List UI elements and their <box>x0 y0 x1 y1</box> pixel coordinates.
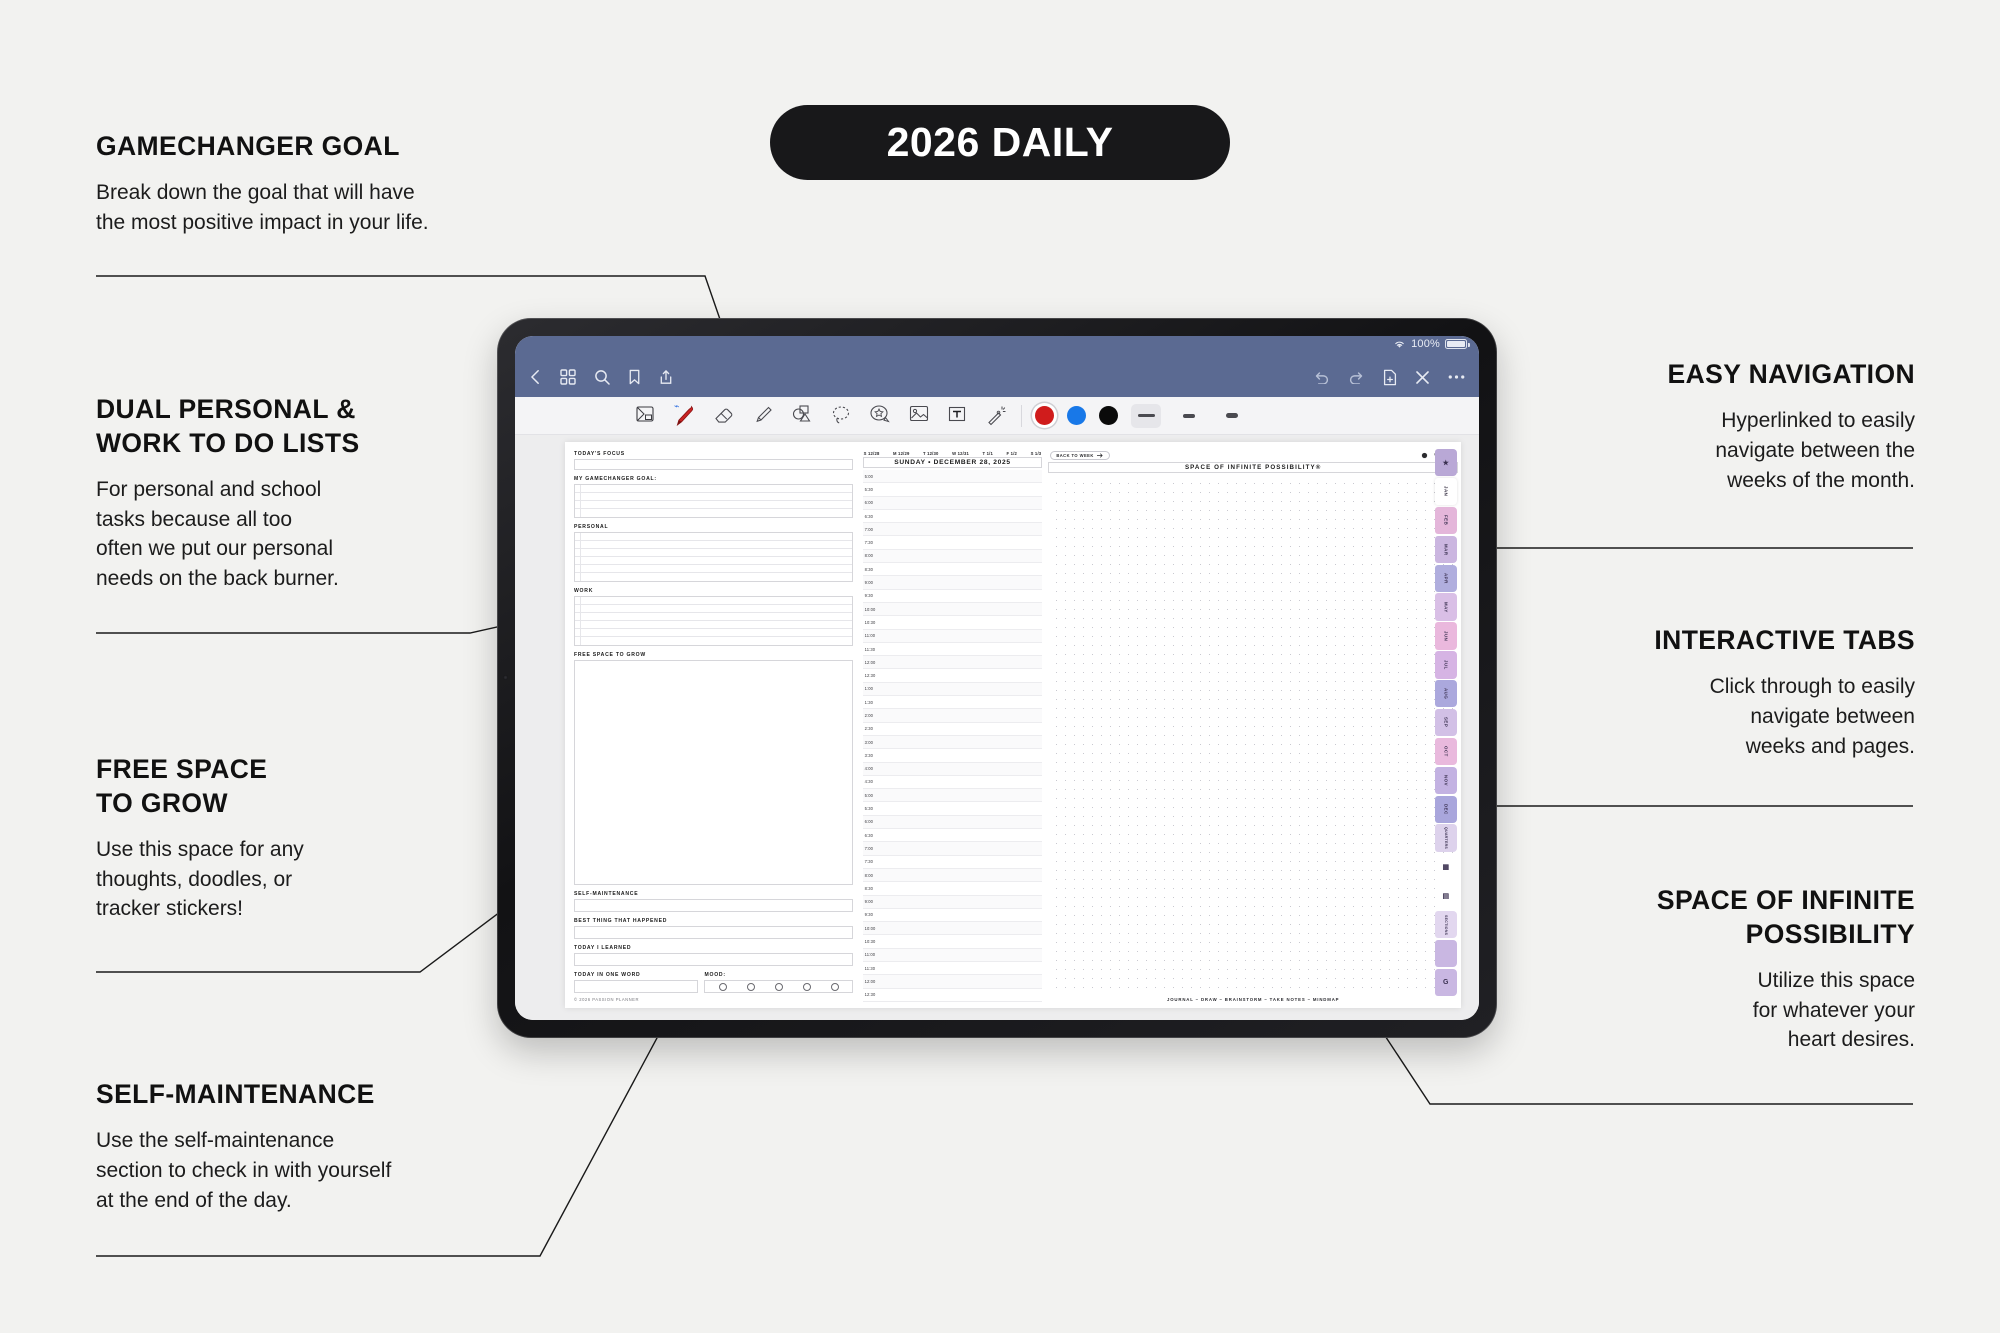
callout-body: For personal and school tasks because al… <box>96 475 536 594</box>
apple-icon[interactable] <box>1435 940 1457 967</box>
page-title: 2026 DAILY <box>887 119 1114 166</box>
page-title-badge: 2026 DAILY <box>770 105 1230 180</box>
planner-notes-column: BACK TO WEEK SPACE OF INFINITE POSSIBILI… <box>1044 442 1461 1008</box>
app-nav-bar <box>515 357 1479 397</box>
tab-sections[interactable]: SECTIONS <box>1435 911 1457 938</box>
today-one-word-field[interactable] <box>574 980 698 993</box>
planner-schedule-column: S 12/28 M 12/29 T 12/30 W 12/31 T 1/1 F … <box>861 442 1045 1008</box>
schedule-time-label: 8:30 <box>863 567 878 572</box>
today-one-word-label: TODAY IN ONE WORD <box>574 972 698 978</box>
schedule-time-label: 12:00 <box>863 979 878 984</box>
schedule-slot[interactable]: 5:30 <box>863 802 1043 815</box>
schedule-time-label: 7:00 <box>863 846 878 851</box>
toolbar-divider <box>1021 405 1022 427</box>
callout-title: INTERACTIVE TABS <box>1530 624 1915 658</box>
pen-icon[interactable]: ⌁ <box>674 404 696 428</box>
planner-page: TODAY'S FOCUS MY GAMECHANGER GOAL: PERSO… <box>565 442 1461 1008</box>
list-row[interactable] <box>575 549 852 557</box>
mood-selector[interactable] <box>704 980 852 993</box>
color-swatch-red[interactable] <box>1035 406 1054 425</box>
callout-body: Break down the goal that will have the m… <box>96 178 616 238</box>
tablet-device: 100% <box>497 318 1497 1038</box>
list-row[interactable] <box>575 613 852 621</box>
schedule-time-label: 7:30 <box>863 540 878 545</box>
schedule-time-label: 10:30 <box>863 620 878 625</box>
shape-icon[interactable] <box>791 404 813 428</box>
mood-frown-face-icon[interactable] <box>747 983 755 991</box>
callout-body: Utilize this space for whatever your hea… <box>1520 966 1915 1055</box>
color-swatch-black[interactable] <box>1099 406 1118 425</box>
schedule-time-label: 10:00 <box>863 607 878 612</box>
tab-apr[interactable]: APR <box>1435 565 1457 592</box>
schedule-slot[interactable]: 12:00 <box>863 656 1043 669</box>
schedule-time-label: 9:30 <box>863 593 878 598</box>
tab-may[interactable]: MAY <box>1435 593 1457 620</box>
schedule-slot[interactable]: 11:30 <box>863 643 1043 656</box>
list-row[interactable] <box>575 501 852 509</box>
list-row[interactable] <box>575 533 852 541</box>
stroke-width-thin[interactable] <box>1131 404 1161 428</box>
schedule-time-label: 4:00 <box>863 766 878 771</box>
callout-easy-navigation: EASY NAVIGATION Hyperlinked to easily na… <box>1540 358 1915 495</box>
schedule-slot[interactable]: 12:30 <box>863 669 1043 682</box>
schedule-time-label: 11:00 <box>863 952 878 957</box>
callout-body: Use this space for any thoughts, doodles… <box>96 835 516 924</box>
new-page-icon[interactable] <box>1383 369 1397 386</box>
page-canvas[interactable]: TODAY'S FOCUS MY GAMECHANGER GOAL: PERSO… <box>515 435 1479 1020</box>
schedule-time-label: 2:00 <box>863 713 878 718</box>
G[interactable]: G <box>1435 969 1457 996</box>
gamechanger-goal-list[interactable] <box>574 484 853 518</box>
drawing-toolbar: ⌁ <box>515 397 1479 435</box>
list-row[interactable] <box>575 621 852 629</box>
tablet-screen: 100% <box>515 336 1479 1020</box>
current-date-title: SUNDAY • DECEMBER 28, 2025 <box>863 457 1043 468</box>
schedule-time-label: 11:30 <box>863 647 878 652</box>
schedule-time-label: 12:00 <box>863 660 878 665</box>
schedule-time-label: 4:30 <box>863 779 878 784</box>
battery-icon <box>1445 339 1467 349</box>
schedule-slot[interactable]: 11:00 <box>863 949 1043 962</box>
schedule-time-label: 6:30 <box>863 833 878 838</box>
list-row[interactable] <box>575 557 852 565</box>
callout-infinite-possibility: SPACE OF INFINITE POSSIBILITY Utilize th… <box>1520 884 1915 1055</box>
tab-jan[interactable]: JAN <box>1435 478 1457 505</box>
stroke-width-medium[interactable] <box>1174 404 1204 428</box>
schedule-slot[interactable]: 6:30 <box>863 510 1043 523</box>
tab-aug[interactable]: AUG <box>1435 680 1457 707</box>
week-day-link[interactable]: T 1/1 <box>983 451 994 456</box>
schedule-time-label: 6:00 <box>863 819 878 824</box>
schedule-slot[interactable]: 8:30 <box>863 563 1043 576</box>
hourly-schedule[interactable]: 5:005:306:006:307:007:308:008:309:009:30… <box>863 470 1043 1002</box>
color-swatch-blue[interactable] <box>1067 406 1086 425</box>
schedule-time-label: 7:30 <box>863 859 878 864</box>
eraser-icon[interactable] <box>713 404 735 428</box>
schedule-slot[interactable]: 4:30 <box>863 776 1043 789</box>
schedule-time-label: 8:00 <box>863 553 878 558</box>
list-row[interactable] <box>575 565 852 573</box>
schedule-slot[interactable]: 1:30 <box>863 696 1043 709</box>
free-space-label: FREE SPACE TO GROW <box>574 652 853 658</box>
schedule-slot[interactable]: 9:30 <box>863 909 1043 922</box>
schedule-time-label: 9:30 <box>863 912 878 917</box>
schedule-time-label: 12:30 <box>863 673 878 678</box>
today-learned-label: TODAY I LEARNED <box>574 945 853 951</box>
schedule-slot[interactable]: 12:30 <box>863 989 1043 1002</box>
schedule-slot[interactable]: 2:30 <box>863 723 1043 736</box>
gamechanger-goal-label: MY GAMECHANGER GOAL: <box>574 476 853 482</box>
schedule-slot[interactable]: 3:00 <box>863 736 1043 749</box>
schedule-slot[interactable]: 7:00 <box>863 842 1043 855</box>
notes-bottom-note: JOURNAL – DRAW – BRAINSTORM – TAKE NOTES… <box>1048 994 1458 1002</box>
ios-status-bar: 100% <box>515 336 1479 357</box>
callout-title: EASY NAVIGATION <box>1540 358 1915 392</box>
planner-left-column: TODAY'S FOCUS MY GAMECHANGER GOAL: PERSO… <box>565 442 861 1008</box>
schedule-time-label: 11:00 <box>863 633 878 638</box>
redo-icon[interactable] <box>1348 370 1365 384</box>
page-icon[interactable]: ▤ <box>1435 882 1457 909</box>
front-camera-icon <box>503 675 508 680</box>
schedule-slot[interactable]: 8:30 <box>863 882 1043 895</box>
schedule-time-label: 6:30 <box>863 514 878 519</box>
schedule-slot[interactable]: 6:00 <box>863 816 1043 829</box>
callout-dual-lists: DUAL PERSONAL & WORK TO DO LISTS For per… <box>96 393 536 594</box>
share-icon[interactable] <box>659 369 673 385</box>
schedule-slot[interactable]: 9:30 <box>863 590 1043 603</box>
copyright-label: © 2026 PASSION PLANNER <box>574 997 853 1002</box>
magic-wand-icon[interactable] <box>986 404 1008 428</box>
tab-sep[interactable]: SEP <box>1435 709 1457 736</box>
tab-nov[interactable]: NOV <box>1435 767 1457 794</box>
schedule-slot[interactable]: 9:00 <box>863 896 1043 909</box>
list-row[interactable] <box>575 541 852 549</box>
week-day-link[interactable]: W 12/31 <box>952 451 969 456</box>
mood-smile-face-icon[interactable] <box>803 983 811 991</box>
schedule-time-label: 8:30 <box>863 886 878 891</box>
dot-grid-canvas[interactable] <box>1048 475 1458 995</box>
today-learned-field[interactable] <box>574 953 853 966</box>
schedule-time-label: 5:30 <box>863 806 878 811</box>
callout-title: FREE SPACE TO GROW <box>96 753 516 821</box>
todays-focus-field[interactable] <box>574 459 853 470</box>
week-day-link[interactable]: S 1/3 <box>1031 451 1042 456</box>
schedule-time-label: 11:30 <box>863 966 878 971</box>
lasso-icon[interactable] <box>830 404 852 428</box>
mood-label: MOOD: <box>704 972 852 978</box>
week-day-link[interactable]: T 12/30 <box>923 451 939 456</box>
best-thing-field[interactable] <box>574 926 853 939</box>
callout-title: SELF-MAINTENANCE <box>96 1078 556 1112</box>
mood-neutral-face-icon[interactable] <box>775 983 783 991</box>
back-chevron-icon[interactable] <box>529 369 542 385</box>
list-row[interactable] <box>575 629 852 637</box>
callout-body: Use the self-maintenance section to chec… <box>96 1126 556 1215</box>
todays-focus-label: TODAY'S FOCUS <box>574 451 853 457</box>
schedule-slot[interactable]: 8:00 <box>863 869 1043 882</box>
mood-sad-face-icon[interactable] <box>719 983 727 991</box>
schedule-slot[interactable]: 5:30 <box>863 483 1043 496</box>
arrow-right-icon <box>1097 453 1104 458</box>
bluetooth-icon: ⌁ <box>674 401 679 412</box>
week-day-link[interactable]: M 12/29 <box>893 451 910 456</box>
schedule-slot[interactable]: 5:00 <box>863 470 1043 483</box>
back-to-week-label: BACK TO WEEK <box>1056 453 1093 458</box>
list-row[interactable] <box>575 493 852 501</box>
callout-title: DUAL PERSONAL & WORK TO DO LISTS <box>96 393 536 461</box>
schedule-slot[interactable]: 9:00 <box>863 576 1043 589</box>
schedule-time-label: 12:30 <box>863 992 878 997</box>
work-todo-list[interactable] <box>574 596 853 646</box>
callout-interactive-tabs: INTERACTIVE TABS Click through to easily… <box>1530 624 1915 761</box>
schedule-time-label: 5:00 <box>863 793 878 798</box>
schedule-time-label: 2:30 <box>863 726 878 731</box>
stroke-width-thick[interactable] <box>1217 404 1247 428</box>
schedule-time-label: 3:00 <box>863 740 878 745</box>
schedule-time-label: 9:00 <box>863 899 878 904</box>
tab-dec[interactable]: DEC <box>1435 796 1457 823</box>
globe-icon[interactable] <box>1421 452 1428 459</box>
schedule-slot[interactable]: 10:30 <box>863 935 1043 948</box>
schedule-slot[interactable]: 12:00 <box>863 975 1043 988</box>
schedule-time-label: 10:30 <box>863 939 878 944</box>
week-day-link[interactable]: S 12/28 <box>864 451 880 456</box>
schedule-slot[interactable]: 6:30 <box>863 829 1043 842</box>
list-row[interactable] <box>575 637 852 645</box>
image-icon[interactable] <box>908 404 930 428</box>
undo-icon[interactable] <box>1313 370 1330 384</box>
personal-list-label: PERSONAL <box>574 524 853 530</box>
schedule-time-label: 3:30 <box>863 753 878 758</box>
best-thing-label: BEST THING THAT HAPPENED <box>574 918 853 924</box>
list-row[interactable] <box>575 573 852 581</box>
schedule-slot[interactable]: 2:00 <box>863 709 1043 722</box>
schedule-time-label: 10:00 <box>863 926 878 931</box>
callout-free-space: FREE SPACE TO GROW Use this space for an… <box>96 753 516 924</box>
callout-body: Click through to easily navigate between… <box>1530 672 1915 761</box>
schedule-slot[interactable]: 4:00 <box>863 763 1043 776</box>
tab-feb[interactable]: FEB <box>1435 507 1457 534</box>
list-row[interactable] <box>575 509 852 517</box>
schedule-slot[interactable]: 3:30 <box>863 749 1043 762</box>
schedule-slot[interactable]: 7:30 <box>863 856 1043 869</box>
schedule-time-label: 7:00 <box>863 527 878 532</box>
grid-thumbnails-icon[interactable] <box>560 369 576 385</box>
poster-root: 2026 DAILY GAMECHANGER GOAL Break down t… <box>0 0 2000 1333</box>
personal-todo-list[interactable] <box>574 532 853 582</box>
close-icon[interactable] <box>1415 370 1430 385</box>
tab-mar[interactable]: MAR <box>1435 536 1457 563</box>
schedule-slot[interactable]: 10:30 <box>863 616 1043 629</box>
schedule-time-label: 1:00 <box>863 686 878 691</box>
back-to-week-button[interactable]: BACK TO WEEK <box>1050 451 1109 460</box>
callout-self-maintenance: SELF-MAINTENANCE Use the self-maintenanc… <box>96 1078 556 1215</box>
week-day-links[interactable]: S 12/28 M 12/29 T 12/30 W 12/31 T 1/1 F … <box>861 451 1045 456</box>
self-maintenance-label: SELF-MAINTENANCE <box>574 891 853 897</box>
tab-jul[interactable]: JUL <box>1435 651 1457 678</box>
schedule-slot[interactable]: 11:30 <box>863 962 1043 975</box>
schedule-slot[interactable]: 7:00 <box>863 523 1043 536</box>
schedule-slot[interactable]: 10:00 <box>863 922 1043 935</box>
callout-title: SPACE OF INFINITE POSSIBILITY <box>1520 884 1915 952</box>
list-row[interactable] <box>575 485 852 493</box>
schedule-time-label: 6:00 <box>863 500 878 505</box>
schedule-slot[interactable]: 11:00 <box>863 630 1043 643</box>
more-options-icon[interactable] <box>1448 374 1465 380</box>
list-row[interactable] <box>575 597 852 605</box>
star-icon[interactable]: ★ <box>1435 449 1457 476</box>
schedule-slot[interactable]: 6:00 <box>863 497 1043 510</box>
free-space-area[interactable] <box>574 660 853 885</box>
sticker-star-icon[interactable] <box>869 404 891 428</box>
tab-oct[interactable]: OCT <box>1435 738 1457 765</box>
schedule-slot[interactable]: 8:00 <box>863 550 1043 563</box>
tab-jun[interactable]: JUN <box>1435 622 1457 649</box>
bookmark-icon[interactable] <box>628 369 641 385</box>
schedule-time-label: 1:30 <box>863 700 878 705</box>
week-day-link[interactable]: F 1/2 <box>1007 451 1018 456</box>
callout-gamechanger-goal: GAMECHANGER GOAL Break down the goal tha… <box>96 130 616 238</box>
tab-quarters[interactable]: QUARTERS <box>1435 824 1457 851</box>
callout-title: GAMECHANGER GOAL <box>96 130 616 164</box>
schedule-time-label: 5:00 <box>863 474 878 479</box>
mood-happy-face-icon[interactable] <box>831 983 839 991</box>
battery-percent-label: 100% <box>1411 338 1440 350</box>
wifi-icon <box>1393 339 1406 349</box>
callout-body: Hyperlinked to easily navigate between t… <box>1540 406 1915 495</box>
schedule-time-label: 9:00 <box>863 580 878 585</box>
self-maintenance-field[interactable] <box>574 899 853 912</box>
notes-title: SPACE OF INFINITE POSSIBILITY® <box>1048 462 1458 473</box>
schedule-slot[interactable]: 5:00 <box>863 789 1043 802</box>
schedule-slot[interactable]: 10:00 <box>863 603 1043 616</box>
schedule-time-label: 8:00 <box>863 873 878 878</box>
work-list-label: WORK <box>574 588 853 594</box>
schedule-slot[interactable]: 1:00 <box>863 683 1043 696</box>
schedule-slot[interactable]: 7:30 <box>863 536 1043 549</box>
list-row[interactable] <box>575 605 852 613</box>
month-tab-rail[interactable]: ★JANFEBMARAPRMAYJUNJULAUGSEPOCTNOVDECQUA… <box>1435 449 1457 996</box>
schedule-time-label: 5:30 <box>863 487 878 492</box>
calendar-grid-icon[interactable]: ▦ <box>1435 853 1457 880</box>
highlighter-icon[interactable] <box>752 404 774 428</box>
search-icon[interactable] <box>594 369 610 385</box>
sticker-icon[interactable] <box>635 404 657 428</box>
text-box-icon[interactable] <box>947 404 969 428</box>
